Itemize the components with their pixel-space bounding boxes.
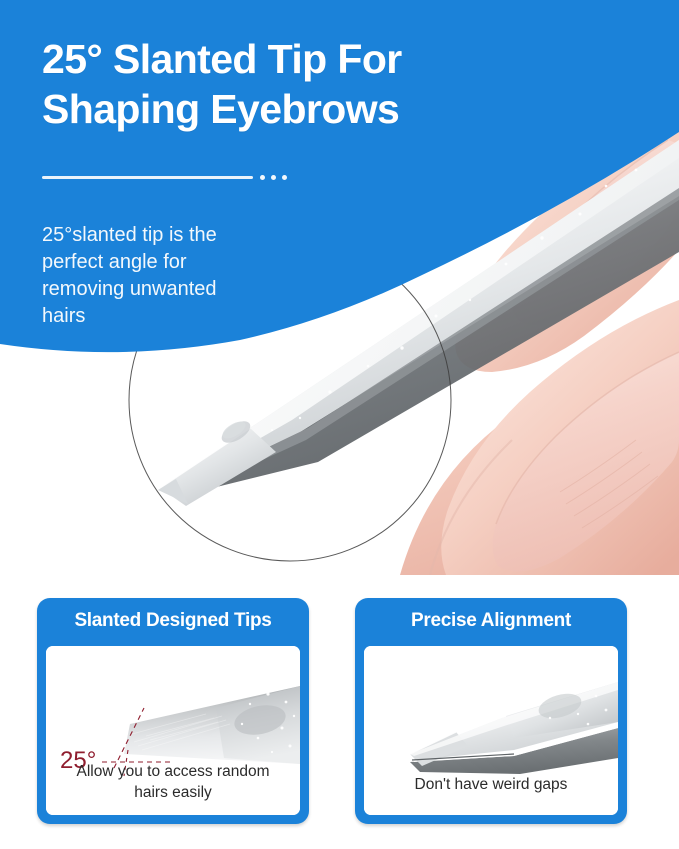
page-title: 25° Slanted Tip For Shaping Eyebrows	[42, 34, 472, 134]
product-feature-image: 25° Slanted Tip For Shaping Eyebrows 25°…	[0, 0, 679, 849]
feature-cards: Slanted Designed Tips	[0, 598, 679, 830]
card-title: Slanted Designed Tips	[37, 610, 309, 632]
divider	[42, 171, 287, 185]
card-body: 25° Allow you to access random hairs eas…	[46, 646, 300, 815]
hero-description: 25°slanted tip is the perfect angle for …	[42, 222, 290, 330]
divider-dot	[260, 175, 265, 180]
feature-card-slanted-designed-tips: Slanted Designed Tips	[37, 598, 309, 824]
hero-text-block: 25° Slanted Tip For Shaping Eyebrows 25°…	[42, 34, 472, 134]
card-caption: Don't have weird gaps	[372, 774, 610, 795]
divider-dot	[271, 175, 276, 180]
divider-rule	[42, 176, 253, 179]
card-body: Don't have weird gaps	[364, 646, 618, 815]
feature-card-precise-alignment: Precise Alignment	[355, 598, 627, 824]
card-caption: Allow you to access random hairs easily	[54, 761, 292, 803]
divider-dot	[282, 175, 287, 180]
card-title: Precise Alignment	[355, 610, 627, 632]
